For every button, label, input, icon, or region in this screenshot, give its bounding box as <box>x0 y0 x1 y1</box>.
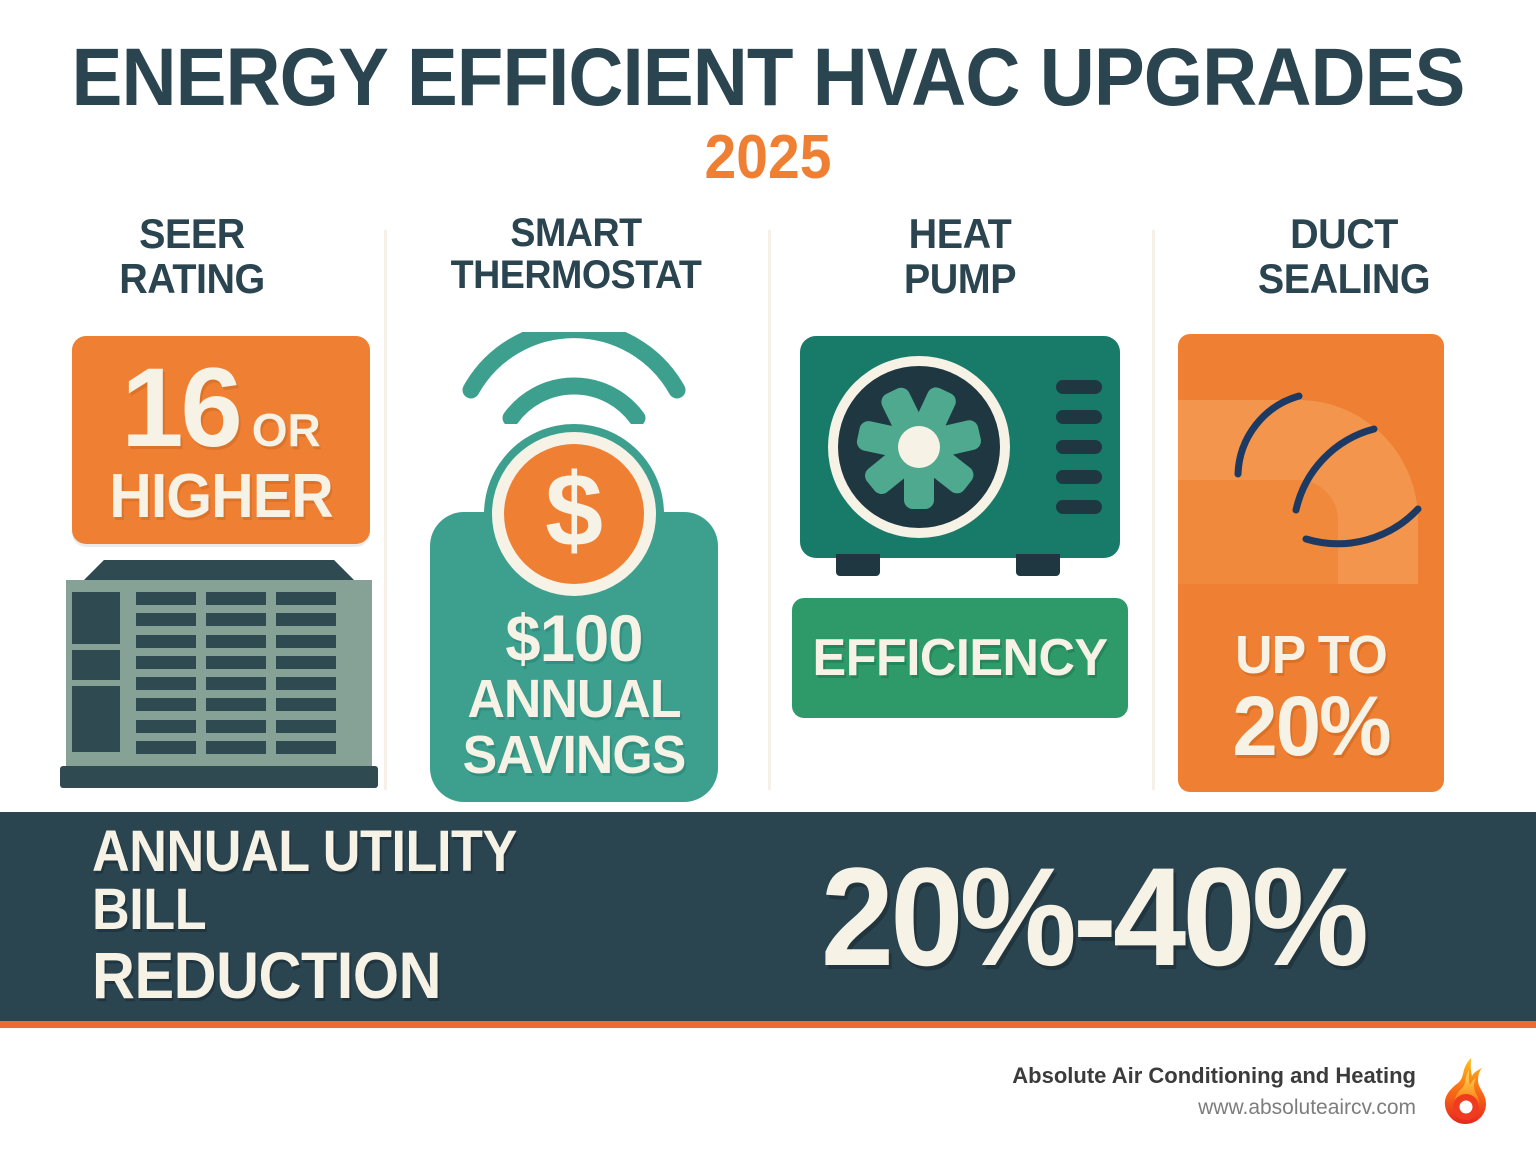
thermostat-savings-text: $100 ANNUAL SAVINGS <box>426 605 722 784</box>
seer-value-row: 16 OR <box>72 352 370 464</box>
column-seer-rating: SEER RATING 16 OR HIGHER <box>0 212 384 810</box>
column-duct-sealing: DUCT SEALING UP TO 20% <box>1152 212 1536 810</box>
column-heading-seer: SEER RATING <box>25 212 360 301</box>
column-heat-pump: HEAT PUMP <box>768 212 1152 810</box>
ac-condenser-unit-icon <box>60 560 378 792</box>
company-name: Absolute Air Conditioning and Heating <box>1012 1059 1416 1092</box>
heat-pump-foot-left <box>836 554 880 576</box>
ac-unit-vents <box>136 592 336 754</box>
banner-line1: ANNUAL UTILITY BILL <box>92 823 630 939</box>
heat-pump-foot-right <box>1016 554 1060 576</box>
seer-value: 16 <box>121 352 240 464</box>
duct-elbow-icon <box>1178 334 1444 584</box>
column-smart-thermostat: SMART THERMOSTAT $ $100 ANNUAL SAVINGS <box>384 212 768 810</box>
thermostat-line2: ANNUAL <box>432 671 716 728</box>
dollar-symbol: $ <box>545 459 603 563</box>
title-block: ENERGY EFFICIENT HVAC UPGRADES 2025 <box>0 38 1536 190</box>
infographic-page: ENERGY EFFICIENT HVAC UPGRADES 2025 SEER… <box>0 0 1536 1154</box>
wifi-icon <box>459 332 689 424</box>
seer-higher-label: HIGHER <box>79 466 362 528</box>
seer-badge: 16 OR HIGHER <box>72 336 370 544</box>
efficiency-badge: EFFICIENCY <box>792 598 1128 718</box>
wifi-thermostat-dollar-icon: $ $100 ANNUAL SAVINGS <box>426 332 722 802</box>
thermostat-line3: SAVINGS <box>432 727 716 784</box>
duct-percent-value: 20% <box>1182 682 1440 770</box>
fan-face <box>838 366 1000 528</box>
heat-pump-fan-unit-icon: EFFICIENCY <box>792 336 1128 802</box>
banner-value: 20%-40% <box>714 847 1472 987</box>
banner-label-group: ANNUAL UTILITY BILL REDUCTION <box>0 823 690 1010</box>
banner-accent-stripe <box>0 1021 1536 1028</box>
utility-bill-banner: ANNUAL UTILITY BILL REDUCTION 20%-40% <box>0 812 1536 1021</box>
duct-sealing-badge: UP TO 20% <box>1178 334 1444 792</box>
heat-pump-vent-slots <box>1056 380 1102 514</box>
company-website[interactable]: www.absoluteaircv.com <box>1012 1092 1416 1124</box>
feature-columns: SEER RATING 16 OR HIGHER <box>0 212 1536 810</box>
footer-text-group: Absolute Air Conditioning and Heating ww… <box>1012 1059 1416 1124</box>
fan-hub <box>898 426 940 468</box>
heat-pump-body <box>800 336 1120 558</box>
thermostat-amount: $100 <box>432 605 716 671</box>
ac-unit-top <box>82 560 356 582</box>
title-year: 2025 <box>61 126 1474 189</box>
duct-savings-text: UP TO 20% <box>1178 628 1444 770</box>
seer-suffix: OR <box>252 403 321 457</box>
page-title: ENERGY EFFICIENT HVAC UPGRADES <box>54 38 1482 118</box>
column-heading-heat-pump: HEAT PUMP <box>793 212 1128 301</box>
column-heading-duct: DUCT SEALING <box>1177 212 1512 301</box>
column-heading-thermostat: SMART THERMOSTAT <box>409 212 744 297</box>
efficiency-label: EFFICIENCY <box>812 628 1107 688</box>
ac-unit-base <box>60 766 378 788</box>
duct-upto-label: UP TO <box>1183 628 1438 682</box>
flame-logo-icon <box>1438 1056 1492 1126</box>
banner-value-group: 20%-40% <box>690 847 1536 987</box>
dollar-coin-icon: $ <box>504 444 644 584</box>
footer: Absolute Air Conditioning and Heating ww… <box>0 1028 1536 1154</box>
ac-unit-side-panels <box>72 592 120 752</box>
banner-line2: REDUCTION <box>92 941 630 1010</box>
